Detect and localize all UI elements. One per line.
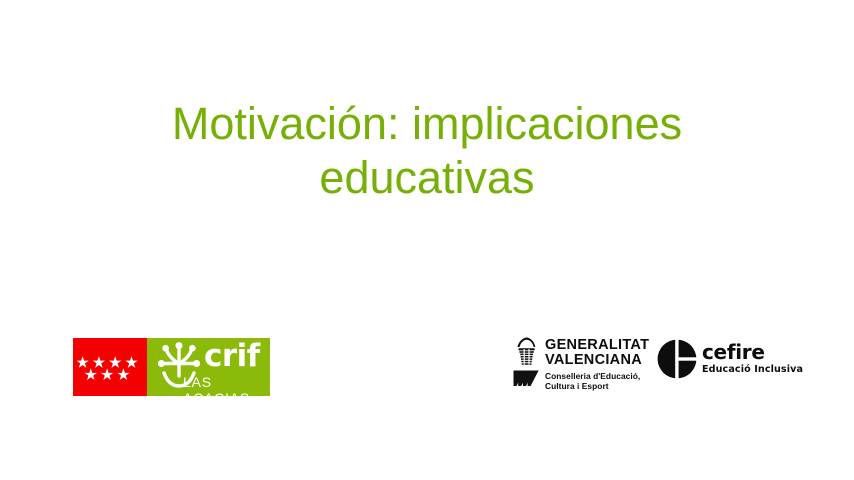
logo-cefire: cefire Educació Inclusiva — [657, 339, 797, 389]
crif-subtitle: LAS ACACIAS — [183, 374, 270, 396]
cefire-text-block: cefire Educació Inclusiva — [702, 342, 803, 376]
logo-strip: crif LAS ACACIAS — [0, 330, 854, 410]
cefire-wordmark: cefire — [702, 342, 803, 363]
gva-line-1: GENERALITAT — [545, 338, 643, 353]
gva-text-block: GENERALITAT VALENCIANA Conselleria d'Edu… — [545, 338, 643, 391]
gva-line-3: Conselleria d'Educació, — [545, 371, 643, 381]
crif-red-panel — [73, 338, 147, 396]
logo-crif-las-acacias: crif LAS ACACIAS — [73, 338, 270, 396]
madrid-seven-stars-icon — [73, 338, 147, 396]
slide-title-line-2: educativas — [0, 151, 854, 205]
gva-crowned-bat-mark-icon — [512, 335, 542, 387]
crif-wordmark: crif — [204, 341, 260, 372]
slide-title-line-1: Motivación: implicaciones — [0, 97, 854, 151]
gva-line-4: Cultura i Esport — [545, 381, 643, 391]
gva-line-2: VALENCIANA — [545, 353, 643, 368]
cefire-subtitle: Educació Inclusiva — [702, 364, 803, 376]
cefire-circle-mark-icon — [657, 339, 697, 379]
logo-generalitat-valenciana: GENERALITAT VALENCIANA Conselleria d'Edu… — [512, 335, 642, 397]
crif-green-panel: crif LAS ACACIAS — [147, 338, 270, 396]
slide-title: Motivación: implicaciones educativas — [0, 97, 854, 205]
presentation-slide: Motivación: implicaciones educativas — [0, 0, 854, 480]
